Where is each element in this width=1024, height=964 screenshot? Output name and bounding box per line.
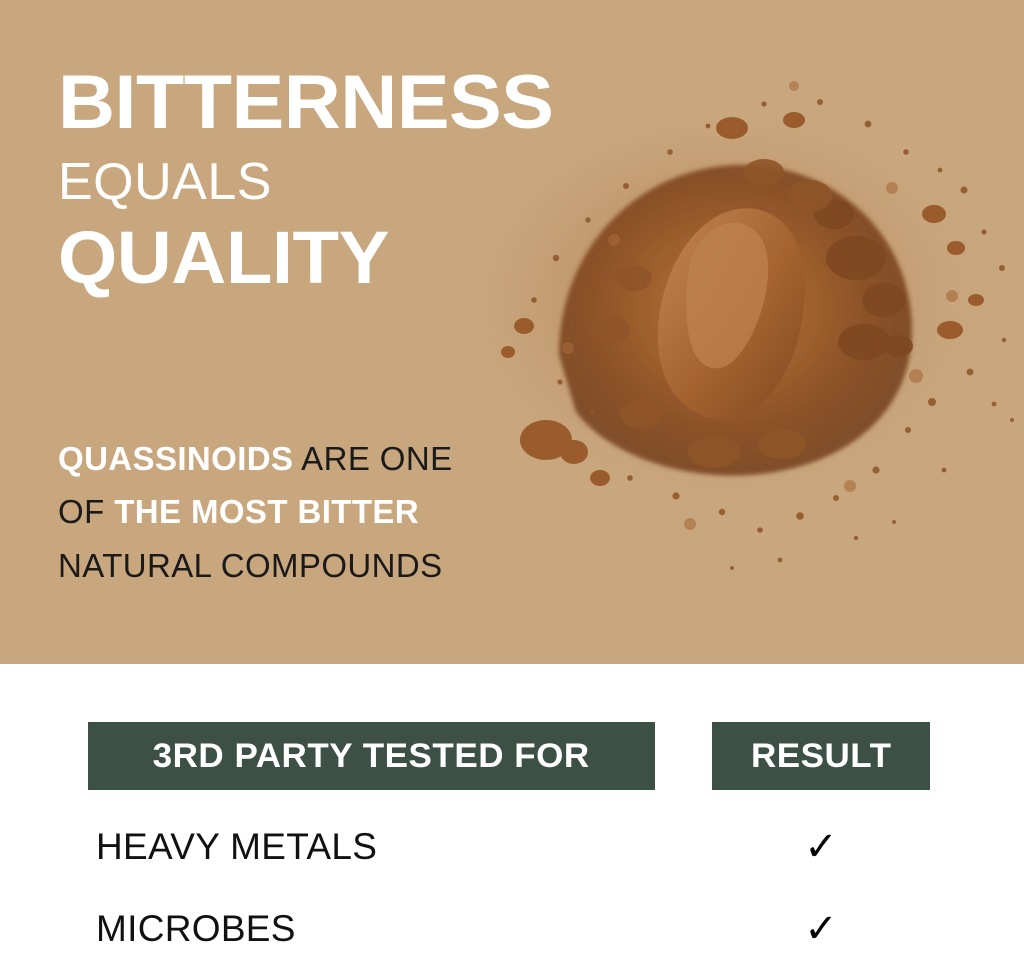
table-row-test-name: HEAVY METALS	[96, 826, 377, 868]
check-icon: ✓	[712, 908, 930, 950]
headline-line-1: BITTERNESS	[58, 66, 682, 140]
table-row: MICROBES ✓	[0, 908, 1024, 964]
table-header-tested-for-label: 3RD PARTY TESTED FOR	[153, 737, 590, 776]
table-header-tested-for: 3RD PARTY TESTED FOR	[88, 722, 655, 790]
check-icon: ✓	[712, 826, 930, 868]
third-party-testing-table: 3RD PARTY TESTED FOR RESULT HEAVY METALS…	[0, 664, 1024, 964]
product-infographic-page: BITTERNESS EQUALS QUALITY QUASSINOIDS AR…	[0, 0, 1024, 964]
subcopy-quassinoids: QUASSINOIDS	[58, 440, 293, 477]
table-row: HEAVY METALS ✓	[0, 826, 1024, 904]
table-row-test-name: MICROBES	[96, 908, 296, 950]
subcopy-most-bitter: THE MOST BITTER	[114, 493, 419, 530]
subcopy-line-2: OF THE MOST BITTER	[58, 485, 618, 538]
subcopy-of: OF	[58, 493, 114, 530]
headline-line-2: EQUALS	[58, 150, 658, 215]
hero-subcopy: QUASSINOIDS ARE ONE OF THE MOST BITTER N…	[58, 432, 618, 592]
table-header-result-label: RESULT	[751, 737, 892, 776]
headline-line-3: QUALITY	[58, 221, 676, 295]
hero-headline-group: BITTERNESS EQUALS QUALITY	[58, 66, 658, 295]
subcopy-are-one: ARE ONE	[293, 440, 452, 477]
subcopy-line-1: QUASSINOIDS ARE ONE	[58, 432, 618, 485]
hero-panel: BITTERNESS EQUALS QUALITY QUASSINOIDS AR…	[0, 0, 1024, 664]
table-header-result: RESULT	[712, 722, 930, 790]
subcopy-line-3: NATURAL COMPOUNDS	[58, 539, 618, 592]
